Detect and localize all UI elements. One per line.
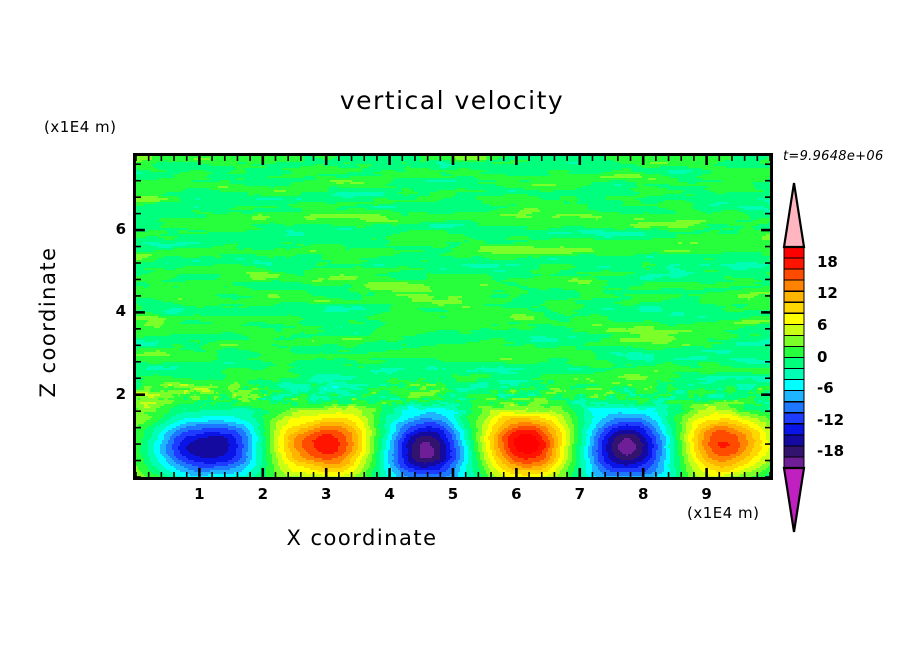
- colorbar-tick-label: 18: [817, 253, 838, 271]
- y-tick-label: 2: [102, 385, 126, 403]
- y-tick-label: 4: [102, 302, 126, 320]
- colorbar-tick-label: 0: [817, 348, 827, 366]
- figure-canvas: vertical velocity (x1E4 m) (x1E4 m) X co…: [0, 0, 904, 654]
- contour-plot: [0, 0, 904, 654]
- x-tick-label: 7: [566, 485, 594, 503]
- x-tick-label: 9: [693, 485, 721, 503]
- x-tick-label: 6: [502, 485, 530, 503]
- colorbar-tick-label: 12: [817, 284, 838, 302]
- colorbar-tick-label: -18: [817, 442, 844, 460]
- y-tick-label: 6: [102, 220, 126, 238]
- colorbar-tick-label: -12: [817, 411, 844, 429]
- x-tick-label: 1: [185, 485, 213, 503]
- x-tick-label: 8: [629, 485, 657, 503]
- colorbar-tick-label: 6: [817, 316, 827, 334]
- x-tick-label: 2: [249, 485, 277, 503]
- colorbar-tick-label: -6: [817, 379, 834, 397]
- x-tick-label: 4: [376, 485, 404, 503]
- x-tick-label: 3: [312, 485, 340, 503]
- x-tick-label: 5: [439, 485, 467, 503]
